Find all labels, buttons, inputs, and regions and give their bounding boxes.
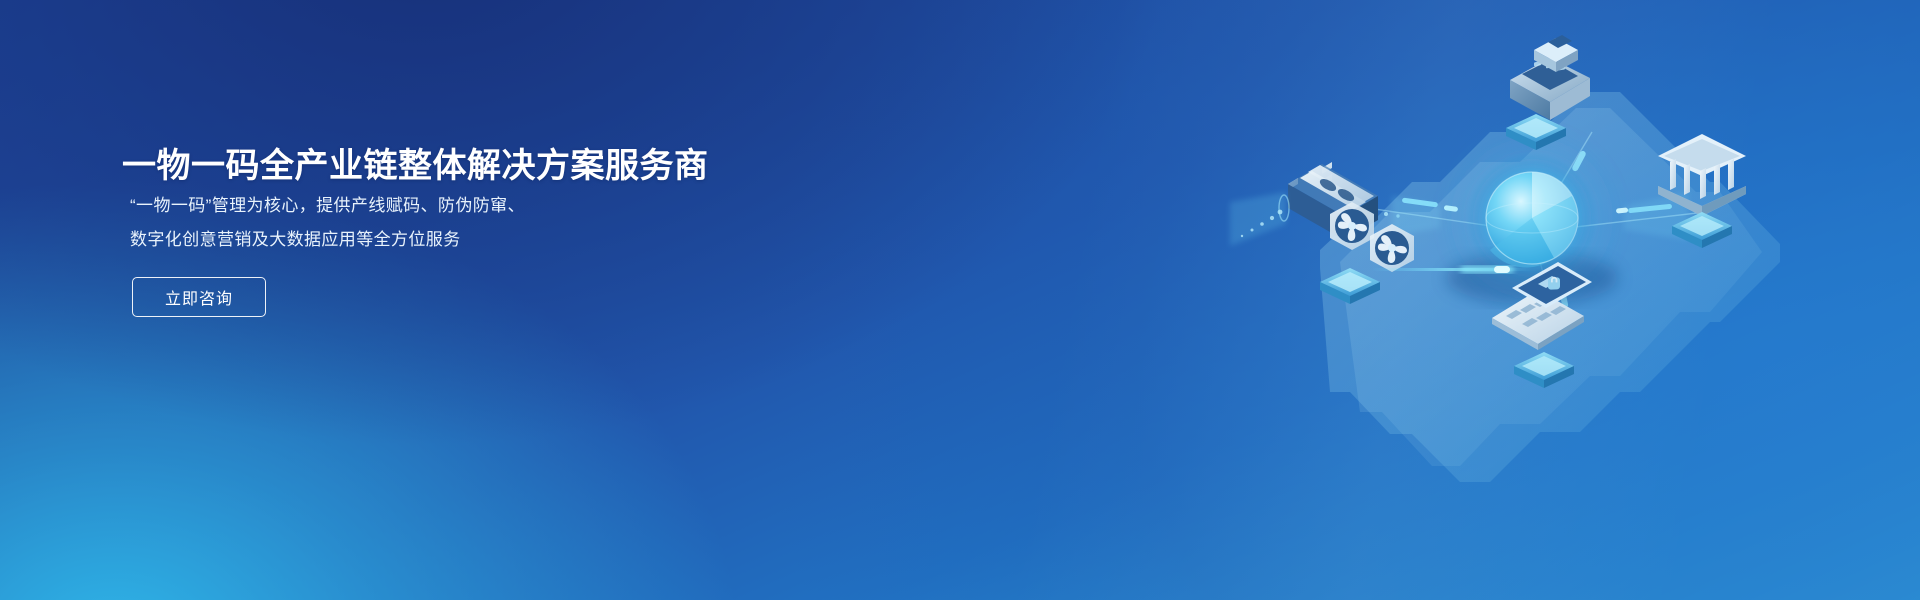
consult-now-button[interactable]: 立即咨询: [132, 277, 266, 317]
page-title: 一物一码全产业链整体解决方案服务商: [122, 138, 709, 187]
hero-banner: 一物一码全产业链整体解决方案服务商 “一物一码”管理为核心，提供产线赋码、防伪防…: [0, 0, 1920, 600]
banner-content: 一物一码全产业链整体解决方案服务商 “一物一码”管理为核心，提供产线赋码、防伪防…: [122, 0, 822, 600]
subtitle-line-2: 数字化创意营销及大数据应用等全方位服务: [130, 225, 461, 250]
subtitle-line-1: “一物一码”管理为核心，提供产线赋码、防伪防窜、: [130, 191, 525, 216]
